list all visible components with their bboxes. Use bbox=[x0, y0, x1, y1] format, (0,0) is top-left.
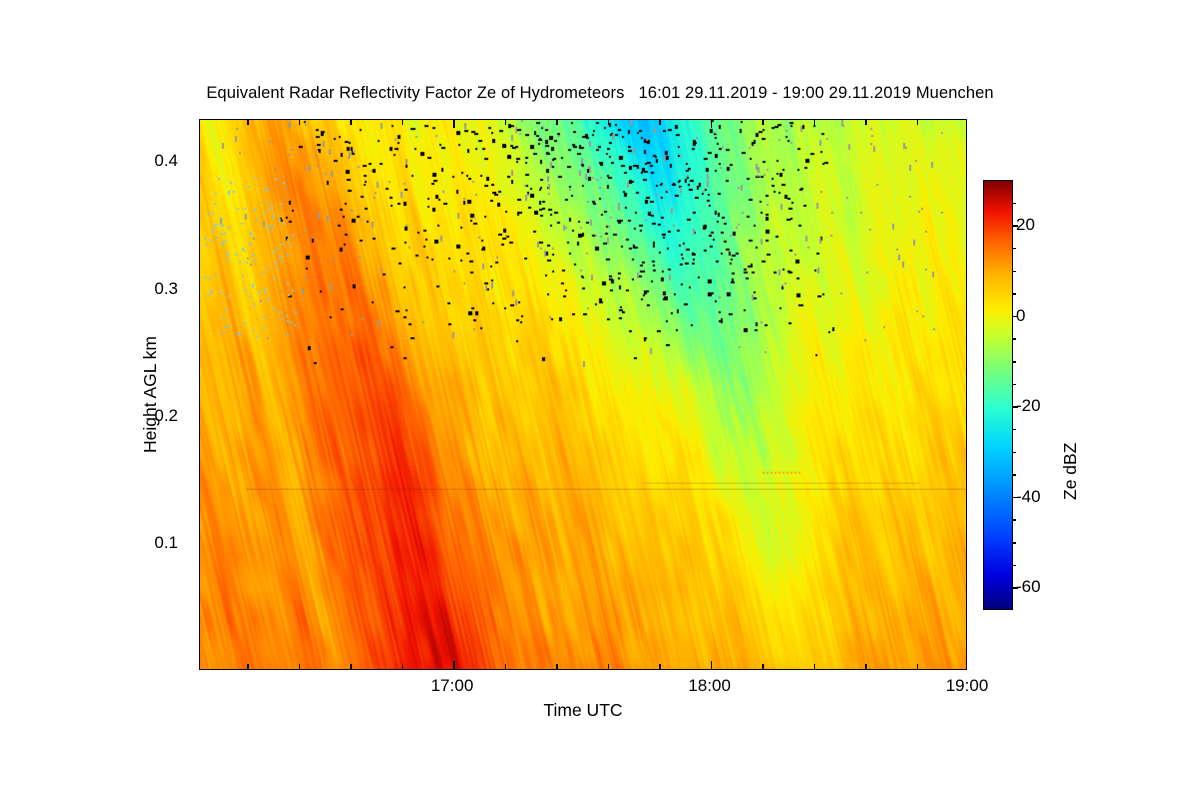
axis-tick bbox=[865, 120, 867, 125]
axis-tick bbox=[966, 315, 967, 317]
axis-tick bbox=[917, 664, 919, 669]
axis-tick bbox=[199, 340, 200, 342]
axis-tick bbox=[556, 120, 558, 125]
colorbar-tick-label: -40 bbox=[1016, 487, 1041, 507]
axis-tick bbox=[966, 468, 967, 470]
axis-tick bbox=[659, 120, 661, 125]
axis-tick bbox=[865, 664, 867, 669]
axis-tick bbox=[199, 366, 200, 368]
axis-tick bbox=[453, 120, 455, 128]
axis-tick bbox=[199, 468, 200, 470]
axis-tick bbox=[966, 188, 967, 190]
axis-tick bbox=[608, 664, 610, 669]
x-tick-label: 17:00 bbox=[431, 676, 474, 696]
axis-tick bbox=[247, 664, 249, 669]
axis-tick bbox=[299, 120, 301, 125]
axis-tick bbox=[199, 290, 200, 292]
axis-tick bbox=[711, 661, 713, 669]
colorbar-tick-label: -60 bbox=[1016, 577, 1041, 597]
axis-tick bbox=[966, 162, 967, 164]
axis-tick bbox=[402, 664, 404, 669]
axis-tick bbox=[247, 120, 249, 125]
axis-tick bbox=[966, 417, 967, 419]
axis-tick bbox=[966, 646, 967, 648]
colorbar-gradient bbox=[984, 181, 1012, 609]
axis-tick bbox=[659, 664, 661, 669]
page-title: Equivalent Radar Reflectivity Factor Ze … bbox=[0, 84, 1200, 103]
axis-tick bbox=[556, 664, 558, 669]
axis-tick bbox=[966, 213, 967, 215]
axis-tick bbox=[199, 442, 200, 444]
axis-tick bbox=[966, 595, 967, 597]
axis-tick bbox=[505, 664, 507, 669]
heatmap-canvas-wrap bbox=[200, 120, 966, 669]
axis-tick bbox=[199, 544, 200, 546]
axis-tick bbox=[966, 340, 967, 342]
colorbar-tick-label: 0 bbox=[1016, 306, 1025, 326]
axis-tick bbox=[199, 493, 200, 495]
x-axis-title: Time UTC bbox=[199, 700, 967, 721]
axis-tick bbox=[711, 120, 713, 128]
axis-tick bbox=[966, 391, 967, 393]
axis-tick bbox=[199, 188, 200, 190]
axis-tick bbox=[199, 595, 200, 597]
axis-tick bbox=[199, 569, 200, 571]
axis-tick bbox=[199, 620, 200, 622]
colorbar-tick-label: 20 bbox=[1016, 215, 1035, 235]
heatmap-plot-area bbox=[199, 119, 967, 670]
axis-tick bbox=[762, 120, 764, 125]
axis-tick bbox=[966, 290, 967, 292]
x-tick-label: 18:00 bbox=[688, 676, 731, 696]
axis-tick bbox=[814, 120, 816, 125]
axis-tick bbox=[199, 137, 200, 139]
axis-tick bbox=[505, 120, 507, 125]
axis-tick bbox=[966, 442, 967, 444]
axis-tick bbox=[199, 417, 200, 419]
reflectivity-heatmap-canvas bbox=[200, 120, 966, 669]
axis-tick bbox=[966, 137, 967, 139]
axis-tick bbox=[966, 264, 967, 266]
axis-tick bbox=[199, 646, 200, 648]
axis-tick bbox=[917, 120, 919, 125]
axis-tick bbox=[402, 120, 404, 125]
axis-tick bbox=[350, 664, 352, 669]
x-tick-label: 19:00 bbox=[946, 676, 989, 696]
axis-tick bbox=[966, 620, 967, 622]
colorbar-tick-label: -20 bbox=[1016, 396, 1041, 416]
axis-tick bbox=[199, 315, 200, 317]
axis-tick bbox=[299, 664, 301, 669]
axis-tick bbox=[199, 213, 200, 215]
axis-tick bbox=[966, 366, 967, 368]
axis-tick bbox=[966, 544, 967, 546]
axis-tick bbox=[199, 264, 200, 266]
colorbar-title: Ze dBZ bbox=[1060, 260, 1084, 500]
colorbar bbox=[983, 180, 1013, 610]
axis-tick bbox=[199, 239, 200, 241]
axis-tick bbox=[453, 661, 455, 669]
axis-tick bbox=[814, 664, 816, 669]
axis-tick bbox=[608, 120, 610, 125]
axis-tick bbox=[199, 518, 200, 520]
axis-tick bbox=[966, 239, 967, 241]
y-axis-title: Height AGL km bbox=[140, 119, 164, 670]
axis-tick bbox=[966, 569, 967, 571]
axis-tick bbox=[762, 664, 764, 669]
axis-tick bbox=[966, 493, 967, 495]
axis-tick bbox=[350, 120, 352, 125]
axis-tick bbox=[966, 518, 967, 520]
axis-tick bbox=[199, 162, 200, 164]
axis-tick bbox=[199, 391, 200, 393]
